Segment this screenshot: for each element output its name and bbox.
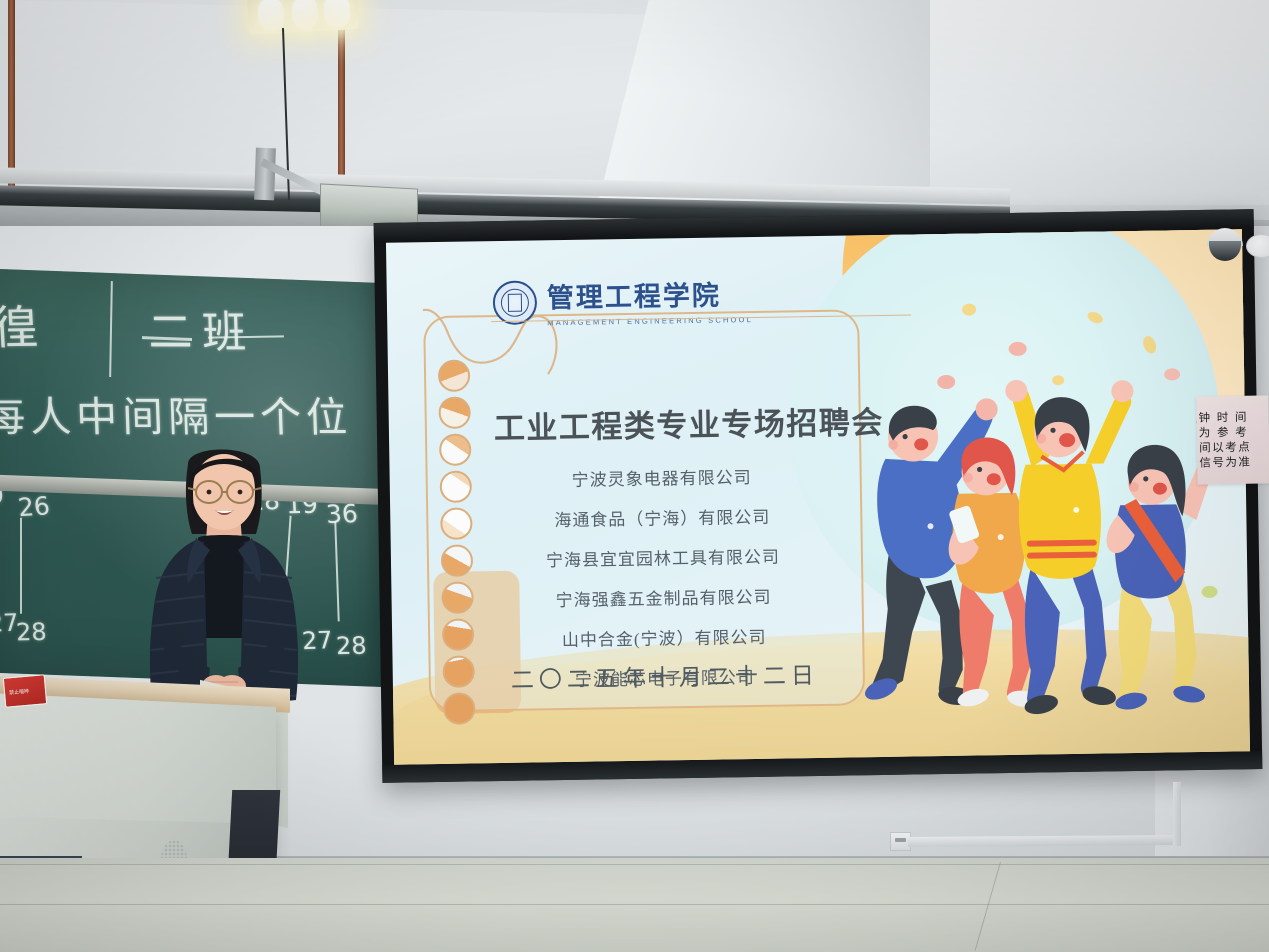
wall-sign-line: 为 参 考 [1199,424,1269,440]
floor [0,858,1269,952]
light-tube-2 [291,0,319,31]
slide-title: 工业工程类专业专场招聘会 [489,397,890,448]
chalk-arrow-left [20,518,22,614]
wall-sign-line: 钟 时 间 [1198,409,1268,425]
projection-screen: 管理工程学院 MANAGEMENT ENGINEERING SCHOOL 工业工… [374,209,1263,783]
cheering-people-illustration [849,281,1250,757]
fluorescent-light-fixture [247,0,359,35]
lectern-red-sign: 禁止喧哗 [3,674,47,708]
dot-1 [438,359,470,391]
wall-sign-line: 间以考点 [1199,439,1269,455]
classroom-scene: 徨 二班 每人中间隔一个位 9 26 18 19 36 27 28 27 28 [0,0,1269,952]
projector-bracket [254,148,276,201]
light-tube-3 [323,0,351,29]
company-item: 宁海县宜宜园林工具有限公司 [463,541,863,572]
cable-conduit-vertical [1173,782,1181,846]
wall-notice-sign: 钟 时 间 为 参 考 间以考点 信号为准 [1196,395,1269,484]
presentation-slide: 管理工程学院 MANAGEMENT ENGINEERING SCHOOL 工业工… [386,229,1250,764]
school-seal-icon [493,280,538,325]
lectern-red-sign-label: 禁止喧哗 [9,690,29,697]
camera-dome-icon [1209,241,1241,261]
presenter [126,438,322,718]
ceiling-beam-right [930,0,1269,205]
school-name-cn: 管理工程学院 [547,273,753,315]
company-item: 宁海强鑫五金制品有限公司 [463,581,863,612]
light-tube-1 [257,0,285,32]
company-item: 山中合金(宁波）有限公司 [464,621,864,652]
dot-3 [439,433,471,465]
wall-sign-line: 信号为准 [1199,455,1269,471]
dome-security-camera [1203,228,1247,266]
floor-tile-line-2 [0,904,1269,905]
company-item: 宁波灵象电器有限公司 [462,461,862,492]
dot-2 [438,396,470,428]
company-item: 海通食品（宁海）有限公司 [462,501,862,532]
cable-conduit-horizontal [908,835,1178,847]
slide-date: 二〇二五年十月二十二日 [465,655,865,695]
floor-tile-line-1 [0,864,1269,865]
